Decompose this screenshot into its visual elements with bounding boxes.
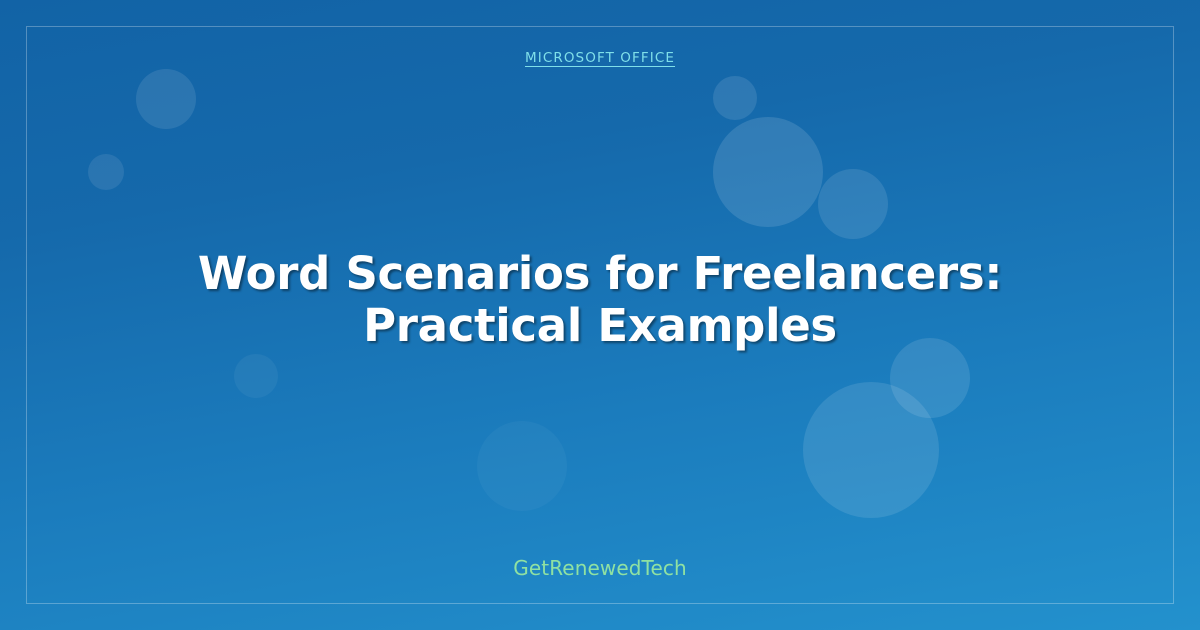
title-container: Word Scenarios for Freelancers: Practica… (26, 44, 1174, 556)
page-title: Word Scenarios for Freelancers: Practica… (125, 248, 1075, 352)
social-share-card: MICROSOFT OFFICE Word Scenarios for Free… (0, 0, 1200, 630)
brand-name: GetRenewedTech (513, 556, 686, 580)
card-content: MICROSOFT OFFICE Word Scenarios for Free… (26, 26, 1174, 604)
